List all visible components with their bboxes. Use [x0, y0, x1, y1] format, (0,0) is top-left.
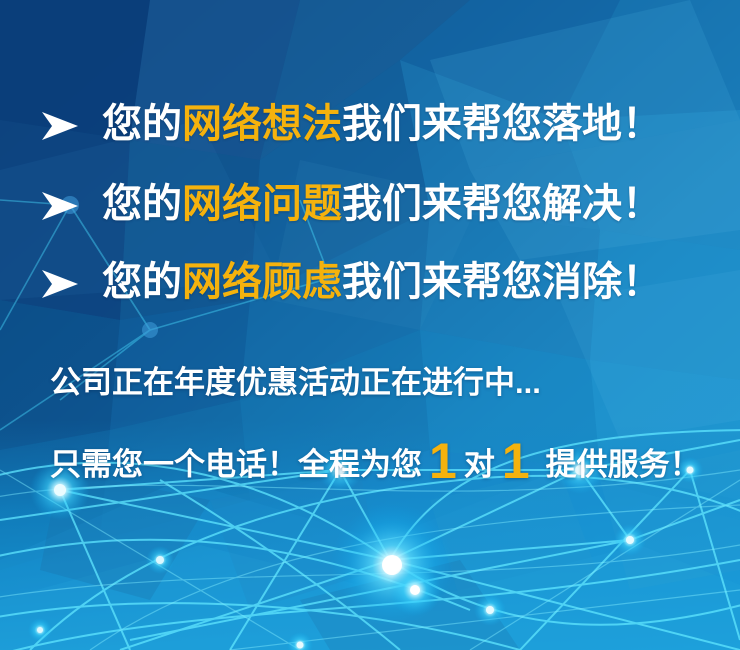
headline-text-3: 您的网络顾虑我们来帮您消除！ [102, 262, 662, 302]
service-text-middle: 对 [464, 449, 495, 480]
headline-prefix-3: 您的 [102, 260, 182, 304]
service-text-part2: 提供服务！ [546, 449, 701, 480]
service-number-first: 1 [422, 436, 464, 486]
promo-subline: 公司正在年度优惠活动正在进行中... [50, 367, 541, 398]
headline-text-1: 您的网络想法我们来帮您落地！ [102, 104, 662, 144]
headline-suffix-3: 我们来帮您消除！ [342, 260, 662, 304]
arrow-right-icon [40, 267, 80, 301]
headline-suffix-2: 我们来帮您解决！ [342, 182, 662, 226]
headline-row-2: 您的网络问题我们来帮您解决！ [40, 184, 662, 224]
arrow-right-icon [40, 109, 80, 143]
headline-text-2: 您的网络问题我们来帮您解决！ [102, 184, 662, 224]
service-subline: 只需您一个电话！全程为您 1 对 1 提供服务！ [50, 433, 701, 483]
service-number-second: 1 [495, 436, 537, 486]
headline-prefix-2: 您的 [102, 182, 182, 226]
headline-highlight-3: 网络顾虑 [182, 260, 342, 304]
headline-highlight-2: 网络问题 [182, 182, 342, 226]
service-text-part1: 只需您一个电话！全程为您 [50, 449, 422, 480]
banner-content: 您的网络想法我们来帮您落地！ 您的网络问题我们来帮您解决！ 您的网络顾虑我们来帮… [0, 0, 740, 650]
headline-row-3: 您的网络顾虑我们来帮您消除！ [40, 262, 662, 302]
headline-suffix-1: 我们来帮您落地！ [342, 102, 662, 146]
headline-prefix-1: 您的 [102, 102, 182, 146]
promo-banner: 您的网络想法我们来帮您落地！ 您的网络问题我们来帮您解决！ 您的网络顾虑我们来帮… [0, 0, 740, 650]
headline-highlight-1: 网络想法 [182, 102, 342, 146]
arrow-right-icon [40, 189, 80, 223]
headline-row-1: 您的网络想法我们来帮您落地！ [40, 104, 662, 144]
